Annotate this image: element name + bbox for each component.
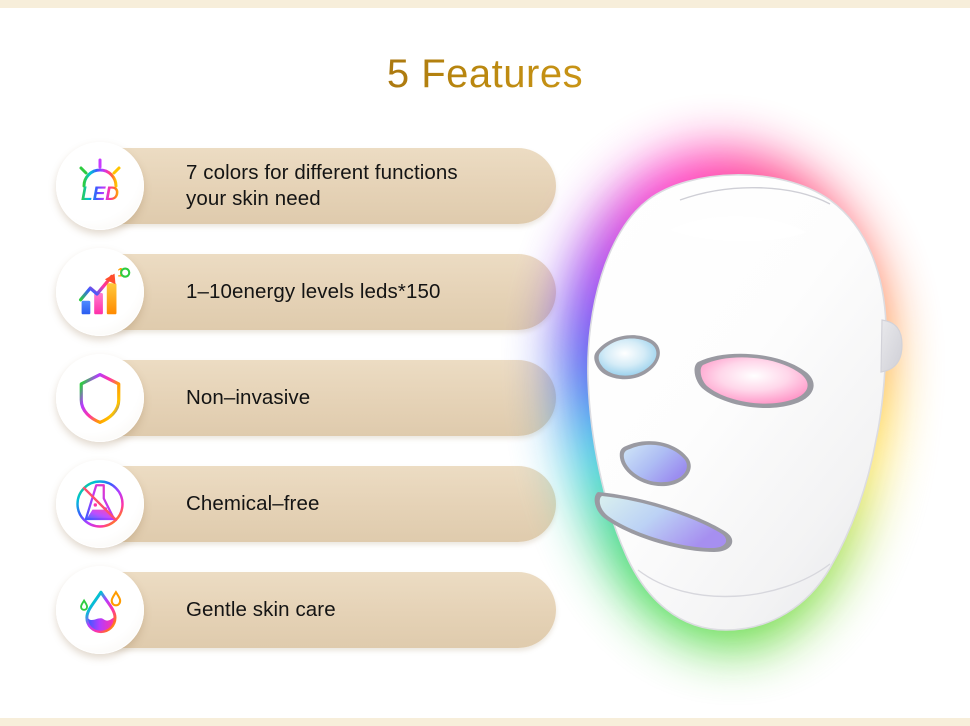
infographic-page: 5 Features 7 colors for different functi… xyxy=(0,0,970,726)
no-chemicals-flask-icon xyxy=(70,474,130,534)
water-droplet-icon xyxy=(70,580,130,640)
feature-icon-badge xyxy=(56,566,144,654)
top-accent-band xyxy=(0,0,970,8)
product-image xyxy=(530,140,950,660)
feature-label: Chemical–free xyxy=(186,491,536,517)
feature-row[interactable]: Non–invasive xyxy=(56,354,516,442)
feature-icon-badge: 1 xyxy=(56,248,144,336)
shield-plus-icon xyxy=(70,368,130,428)
feature-row[interactable]: 7 colors for different functions your sk… xyxy=(56,142,516,230)
feature-label: Non–invasive xyxy=(186,385,536,411)
bottom-accent-band xyxy=(0,718,970,726)
led-lamp-icon: LED xyxy=(68,154,132,218)
feature-icon-badge xyxy=(56,354,144,442)
feature-row[interactable]: Gentle skin care xyxy=(56,566,516,654)
feature-row[interactable]: 1–10energy levels leds*150 xyxy=(56,248,516,336)
feature-label: Gentle skin care xyxy=(186,597,536,623)
feature-icon-badge: LED xyxy=(56,142,144,230)
bar-chart-growth-icon: 1 xyxy=(69,261,131,323)
feature-label: 1–10energy levels leds*150 xyxy=(186,279,536,305)
page-title: 5 Features xyxy=(0,52,970,97)
feature-label: 7 colors for different functions your sk… xyxy=(186,160,536,212)
svg-text:LED: LED xyxy=(81,184,119,205)
led-face-mask xyxy=(530,140,950,660)
feature-icon-badge xyxy=(56,460,144,548)
feature-list: 7 colors for different functions your sk… xyxy=(56,142,516,672)
feature-row[interactable]: Chemical–free xyxy=(56,460,516,548)
